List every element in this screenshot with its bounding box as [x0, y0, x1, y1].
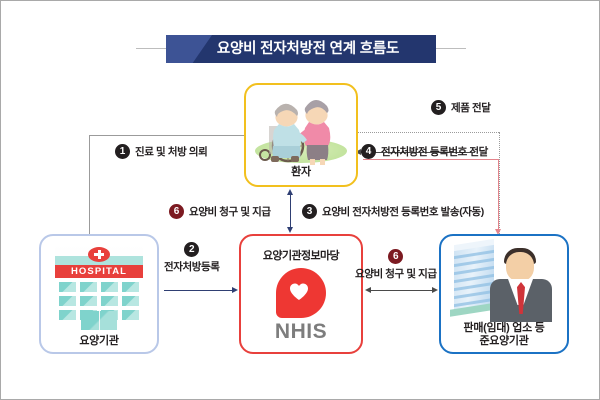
flow2-arrowhead — [232, 287, 238, 293]
step-label-6-left: 6 요양비 청구 및 지급 — [169, 204, 271, 219]
flow5-segment-horizontal — [347, 132, 499, 133]
flow2-line — [164, 290, 234, 291]
step-bullet-6-right: 6 — [388, 249, 403, 264]
businessman-head — [506, 252, 534, 282]
node-vendor-label-line1: 판매(임대) 업소 등 — [464, 322, 545, 335]
hospital-building-icon: HOSPITAL — [55, 244, 143, 330]
title-rule-left — [136, 48, 166, 49]
flow1-segment-vertical — [89, 135, 90, 235]
flow3-segment-vertical — [498, 159, 499, 231]
flow3-segment-horizontal — [363, 159, 499, 160]
hospital-sign-text: HOSPITAL — [55, 265, 143, 278]
step-text-2: 전자처방등록 — [164, 259, 220, 274]
flow6-patient-nhis-line — [290, 193, 291, 229]
step-label-5: 5 제품 전달 — [431, 100, 491, 115]
step-text-4: 전자처방전 등록번호 전달 — [381, 144, 488, 159]
step-bullet-1: 1 — [115, 144, 130, 159]
step-text-6-left: 요양비 청구 및 지급 — [189, 204, 271, 219]
diagram-title-banner: 요양비 전자처방전 연계 흐름도 — [166, 35, 436, 63]
flow6-patient-nhis-arrowhead-down — [287, 227, 293, 233]
office-building-businessman-icon — [444, 238, 564, 322]
node-vendor-label-line2: 준요양기관 — [479, 335, 528, 348]
step-bullet-3: 3 — [302, 204, 317, 219]
page-title: 요양비 전자처방전 연계 흐름도 — [166, 35, 436, 63]
hospital-body — [55, 278, 143, 330]
flow5-segment-vertical — [499, 132, 500, 236]
node-nhis[interactable]: 요양기관정보마당 NHIS — [239, 234, 363, 354]
diagram-canvas: 요양비 전자처방전 연계 흐름도 — [0, 0, 600, 400]
step-bullet-4: 4 — [361, 144, 376, 159]
step-label-1: 1 진료 및 처방 의뢰 — [115, 144, 207, 159]
nhis-wordmark: NHIS — [275, 320, 327, 344]
step-bullet-6-left: 6 — [169, 204, 184, 219]
step-label-4: 4 전자처방전 등록번호 전달 — [361, 144, 488, 159]
step-label-6-right: 6 요양비 청구 및 지급 — [355, 249, 437, 281]
medical-cross-icon — [88, 247, 110, 262]
node-patient[interactable]: 환자 — [244, 83, 358, 187]
flow6-nhis-vendor-arrowhead-left — [365, 287, 371, 293]
flow1-segment-horizontal — [89, 135, 245, 136]
step-bullet-5: 5 — [431, 100, 446, 115]
step-bullet-2: 2 — [184, 242, 199, 257]
step-text-3: 요양비 전자처방전 등록번호 발송(자동) — [322, 204, 484, 219]
node-hospital[interactable]: HOSPITAL 요양기관 — [39, 234, 159, 354]
flow6-patient-nhis-arrowhead-up — [287, 189, 293, 195]
node-nhis-top-label: 요양기관정보마당 — [263, 247, 339, 263]
node-vendor[interactable]: 판매(임대) 업소 등 준요양기관 — [439, 234, 569, 354]
title-rule-right — [436, 48, 466, 49]
step-text-5: 제품 전달 — [451, 100, 491, 115]
elderly-couple-wheelchair-icon — [247, 86, 355, 166]
step-label-3: 3 요양비 전자처방전 등록번호 발송(자동) — [302, 204, 484, 219]
step-label-2: 2 전자처방등록 — [164, 242, 220, 274]
node-patient-label: 환자 — [291, 166, 311, 179]
flow6-nhis-vendor-arrowhead-right — [432, 287, 438, 293]
step-text-1: 진료 및 처방 의뢰 — [135, 144, 207, 159]
nhis-heart-speech-bubble-icon — [274, 268, 328, 318]
flow6-nhis-vendor-line — [370, 290, 434, 291]
node-hospital-label: 요양기관 — [79, 335, 118, 348]
heart-icon — [289, 282, 309, 302]
step-text-6-right: 요양비 청구 및 지급 — [355, 266, 437, 281]
